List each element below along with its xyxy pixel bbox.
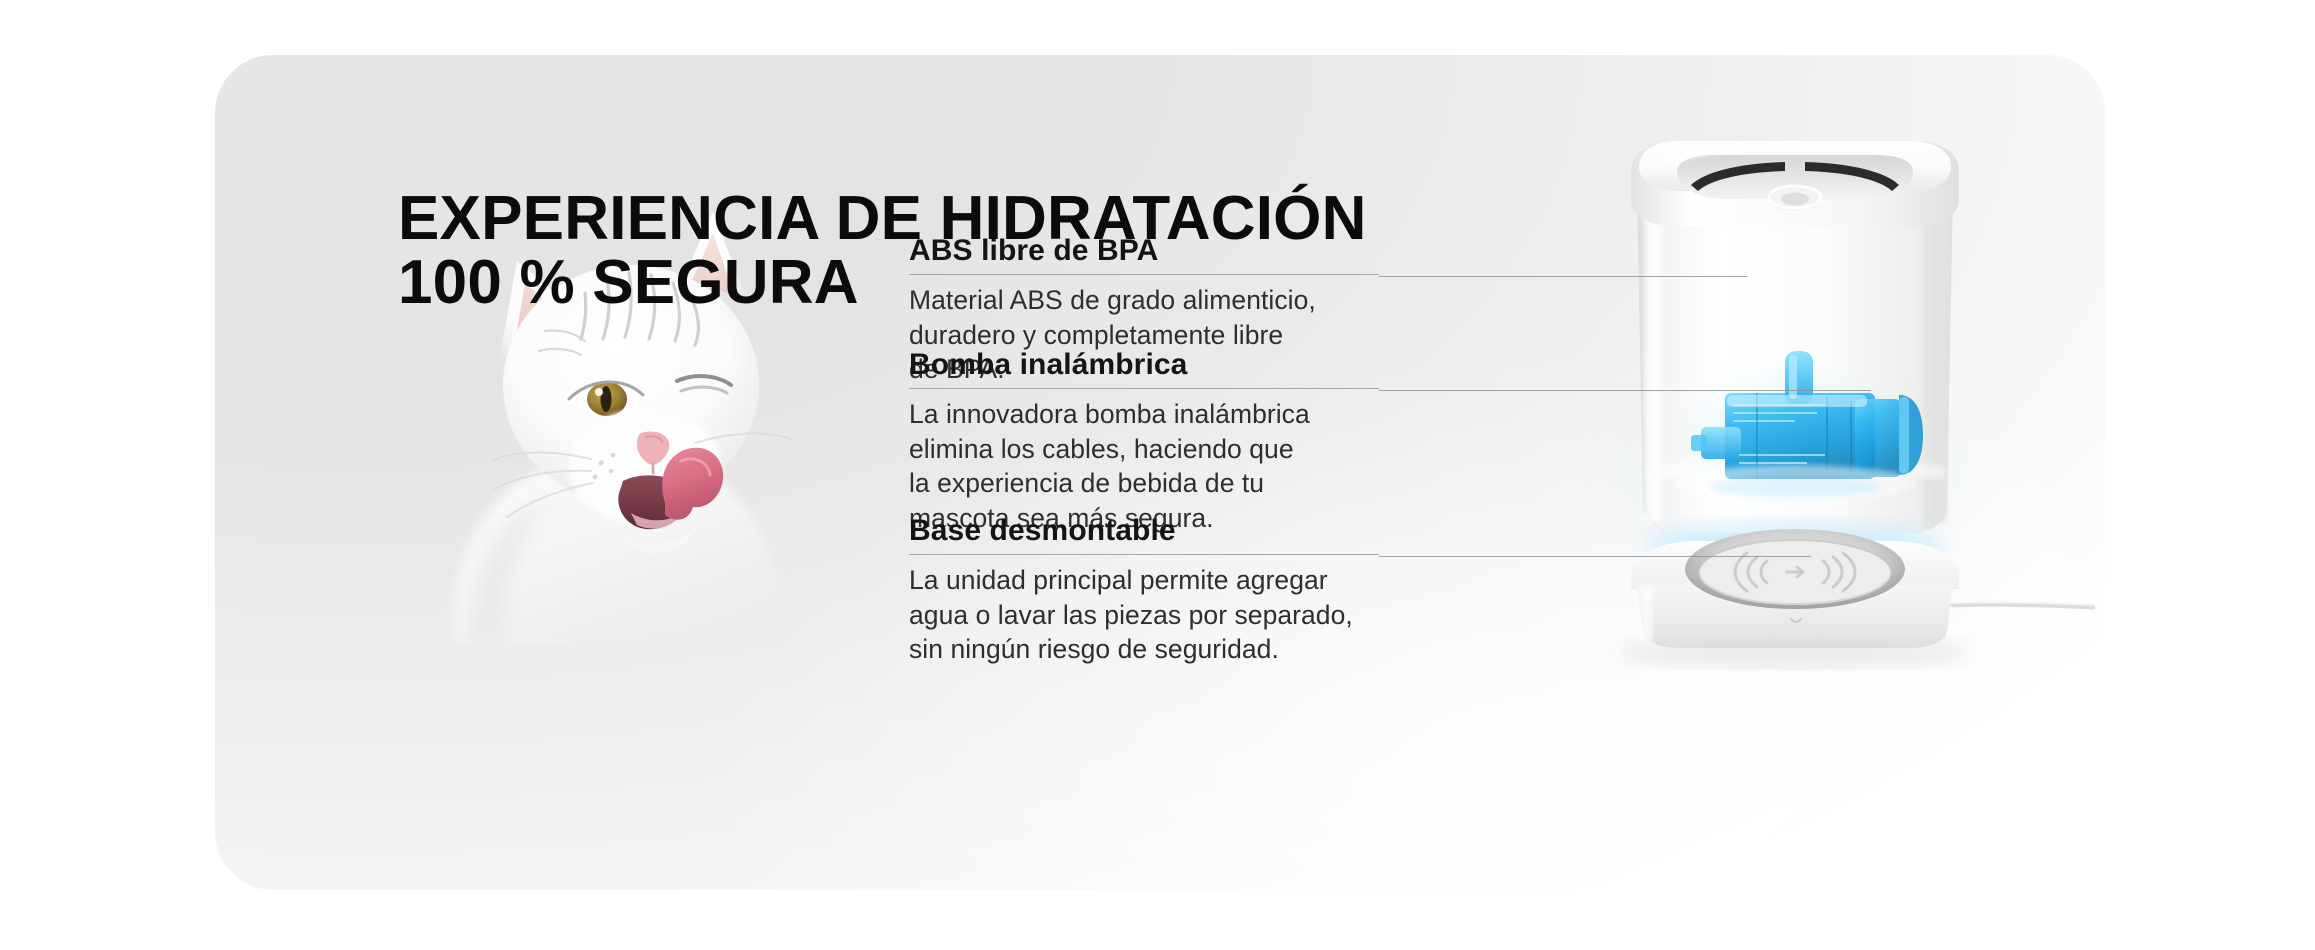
leader-line-base [1379,556,1811,557]
callout-heading: ABS libre de BPA [909,233,1379,268]
callout-rule [909,274,1379,275]
callout-base-desmontable: Base desmontable La unidad principal per… [909,513,1379,667]
feature-card: EXPERIENCIA DE HIDRATACIÓN 100 % SEGURA … [215,55,2105,890]
callout-heading: Bomba inalámbrica [909,347,1379,382]
cat-image-alt: Gato blanco atigrado relamiéndose [0,0,1,1]
callout-heading: Base desmontable [909,513,1379,548]
product-image-alt: Fuente de agua para mascotas con bomba i… [0,0,1,1]
promo-banner: EXPERIENCIA DE HIDRATACIÓN 100 % SEGURA … [0,0,2315,950]
leader-line-pump [1379,390,1871,391]
callout-bomba-inalambrica: Bomba inalámbrica La innovadora bomba in… [909,347,1379,535]
water-fountain-product [1495,75,2095,675]
callout-rule [909,388,1379,389]
leader-line-abs [1379,276,1747,277]
callout-body: La unidad principal permite agregar agua… [909,563,1379,666]
callout-rule [909,554,1379,555]
